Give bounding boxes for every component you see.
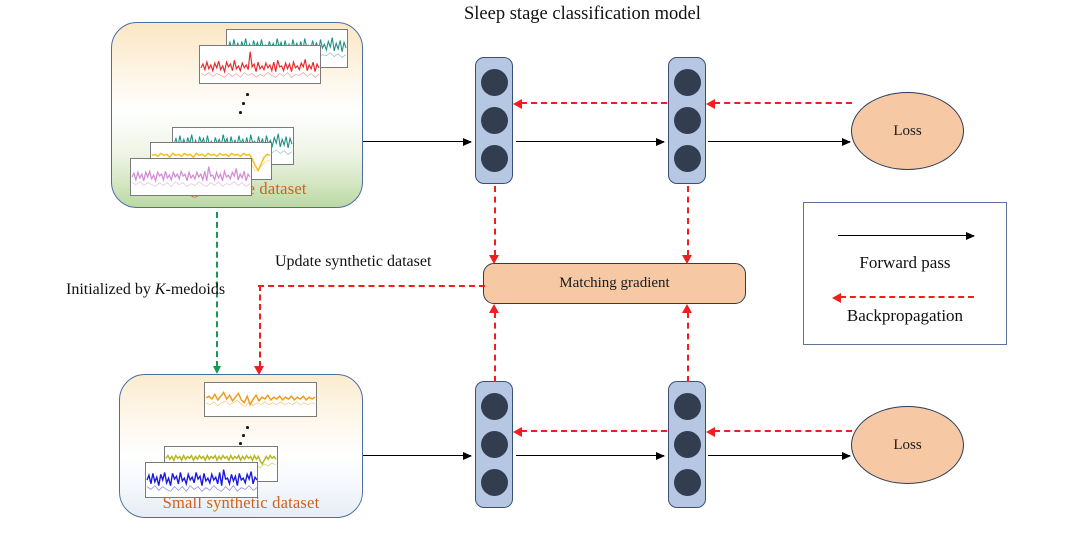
matching-gradient-box[interactable]: Matching gradient (483, 263, 746, 304)
forward-arrow-synth-to-layer1 (363, 455, 471, 456)
node (674, 107, 701, 134)
dot (242, 434, 245, 437)
loss-node-bottom[interactable]: Loss (851, 406, 964, 484)
loss-node-top[interactable]: Loss (851, 92, 964, 170)
forward-arrow-source-to-layer1 (363, 141, 471, 142)
legend-backprop-label: Backpropagation (804, 306, 1006, 326)
node (481, 469, 508, 496)
forward-arrow-layer1-to-layer2 (516, 141, 664, 142)
init-k-italic: K (155, 281, 166, 298)
initialized-by-kmedoids-label: Initialized by K-medoids (66, 281, 225, 299)
node (481, 107, 508, 134)
signal-card-red[interactable] (199, 45, 321, 84)
backprop-arrow-blayer2-to-blayer1 (521, 430, 667, 432)
gradient-arrow-layer2-to-matching (687, 186, 689, 256)
backprop-arrow-layer2-to-layer1 (521, 102, 667, 104)
source-vertical-ellipsis (238, 93, 252, 119)
signal-card-blue[interactable] (145, 462, 258, 498)
gradient-arrow-blayer1-to-matching (494, 312, 496, 382)
model-layer-top-2[interactable] (668, 57, 706, 184)
waveform-blue (146, 463, 257, 497)
dot (246, 93, 249, 96)
node (481, 69, 508, 96)
diagram-canvas: Sleep stage classification model Large s… (0, 0, 1066, 546)
model-layer-bottom-1[interactable] (475, 381, 513, 508)
init-prefix: Initialized by (66, 281, 155, 298)
dot (242, 102, 245, 105)
signal-card-orchid[interactable] (130, 158, 252, 196)
forward-arrow-blayer1-to-blayer2 (516, 455, 664, 456)
model-layer-top-1[interactable] (475, 57, 513, 184)
dot (246, 426, 249, 429)
loss-label-top: Loss (893, 123, 921, 140)
page-title: Sleep stage classification model (464, 4, 701, 25)
backprop-arrow-bloss-to-blayer2 (714, 430, 852, 432)
waveform-orchid (131, 159, 251, 195)
node (674, 69, 701, 96)
signal-card-orange[interactable] (204, 382, 317, 417)
gradient-arrow-blayer2-to-matching (687, 312, 689, 382)
node (481, 393, 508, 420)
legend-forward-label: Forward pass (804, 253, 1006, 273)
update-synthetic-path-horizontal (258, 285, 485, 287)
node (674, 469, 701, 496)
dot (239, 111, 242, 114)
legend-box: Forward pass Backpropagation (803, 202, 1007, 345)
matching-gradient-label: Matching gradient (559, 275, 669, 292)
model-layer-bottom-2[interactable] (668, 381, 706, 508)
update-synthetic-path-vertical (259, 285, 261, 367)
waveform-red (200, 46, 320, 83)
dot (239, 442, 242, 445)
gradient-arrow-layer1-to-matching (494, 186, 496, 256)
node (674, 431, 701, 458)
node (481, 145, 508, 172)
backprop-arrow-loss-to-layer2 (714, 102, 852, 104)
forward-arrow-blayer2-to-loss (708, 455, 850, 456)
forward-arrow-layer2-to-loss (708, 141, 850, 142)
node (674, 393, 701, 420)
legend-backprop-arrow (840, 296, 974, 298)
node (674, 145, 701, 172)
legend-forward-arrow (838, 235, 974, 236)
init-suffix: -medoids (166, 281, 226, 298)
waveform-orange (205, 383, 316, 416)
node (481, 431, 508, 458)
loss-label-bottom: Loss (893, 437, 921, 454)
update-synthetic-dataset-label: Update synthetic dataset (275, 253, 431, 271)
